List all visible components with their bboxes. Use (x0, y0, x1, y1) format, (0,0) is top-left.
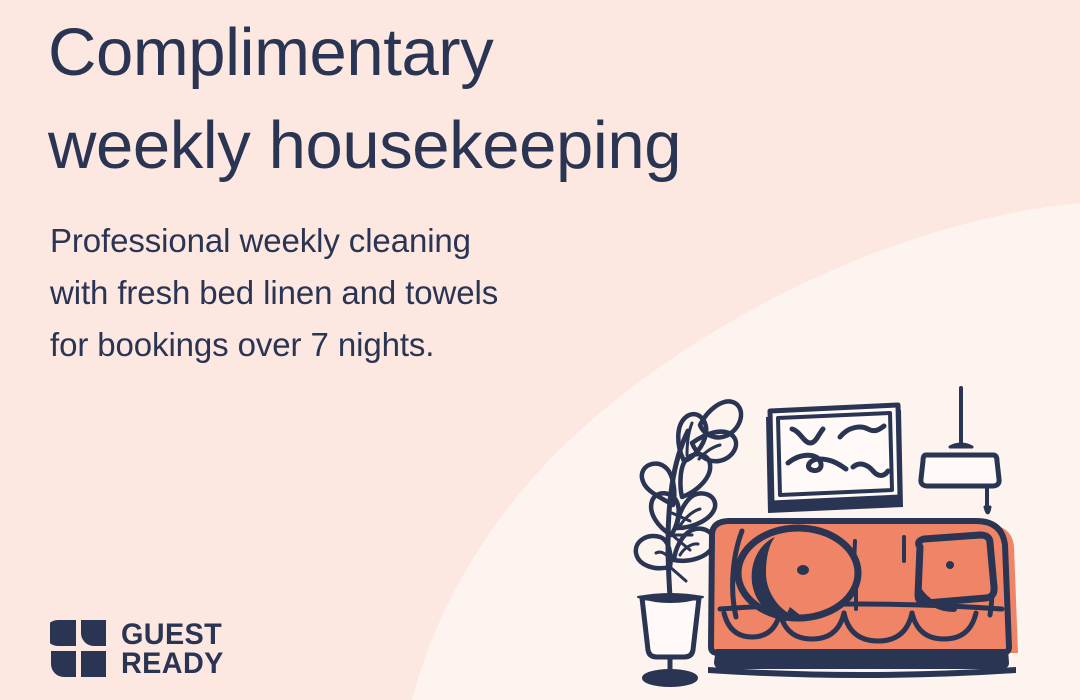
logo-wordmark-line2: READY (121, 649, 224, 678)
pendant-lamp-icon (921, 388, 999, 513)
promo-banner: Complimentary weekly housekeeping Profes… (0, 0, 1080, 700)
sofa-icon (708, 521, 1018, 678)
page-title: Complimentary weekly housekeeping (48, 6, 948, 192)
square-pillow-icon (918, 535, 994, 609)
framed-artwork-icon (766, 405, 903, 513)
guestready-logo[interactable]: GUEST READY (50, 618, 228, 680)
living-room-illustration (620, 385, 1080, 700)
round-cushion-icon (738, 528, 858, 623)
guestready-quadrant-mark (50, 618, 108, 680)
logo-wordmark-line1: GUEST (121, 620, 224, 649)
page-subtitle: Professional weekly cleaning with fresh … (50, 215, 690, 371)
